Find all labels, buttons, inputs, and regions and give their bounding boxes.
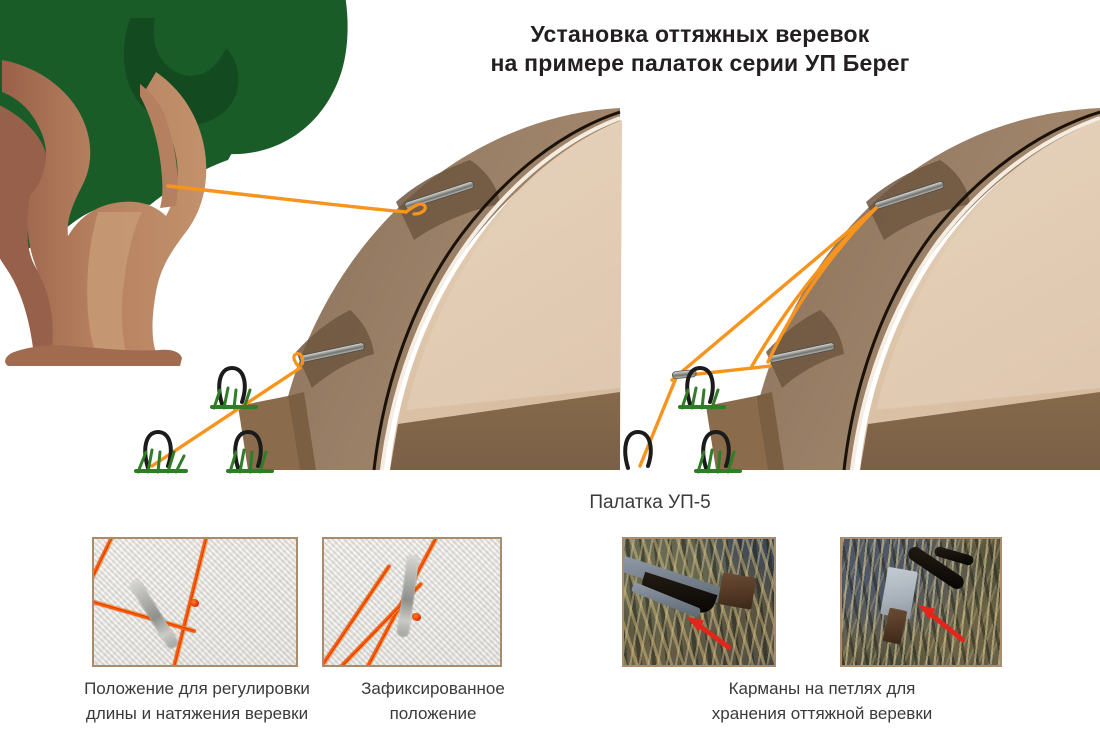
photo-loop-pocket-open[interactable]	[622, 537, 776, 667]
page-title: Установка оттяжных веревок на примере па…	[420, 20, 980, 78]
grass-tuft	[678, 388, 726, 409]
photo-content	[94, 539, 296, 665]
photo-tensioner-adjust[interactable]	[92, 537, 298, 667]
tree-roots	[5, 345, 182, 366]
photo-content	[842, 539, 1000, 665]
cord-knot	[190, 599, 199, 607]
photo-loop-pocket-closed[interactable]	[840, 537, 1002, 667]
page-title-line-2: на примере палаток серии УП Берег	[420, 49, 980, 78]
ground-stake	[219, 368, 245, 404]
guy-rope-left-upper	[168, 186, 425, 214]
cord-knot	[412, 613, 421, 621]
caption-line-2: хранения оттяжной веревки	[632, 701, 1012, 726]
tent-guyline-illustration	[0, 0, 1100, 520]
caption-line-1: Зафиксированное	[318, 676, 548, 701]
tent-model-caption: Палатка УП-5	[490, 492, 810, 514]
grass-tuft	[210, 388, 258, 409]
caption-tensioner-locked: Зафиксированное положение	[318, 676, 548, 726]
tent-left	[238, 108, 622, 470]
caption-line-2: положение	[318, 701, 548, 726]
caption-line-1: Карманы на петлях для	[632, 676, 1012, 701]
stake-group-left-a	[134, 432, 188, 473]
poster-canvas: Установка оттяжных веревок на примере па…	[0, 0, 1100, 733]
page-title-line-1: Установка оттяжных веревок	[420, 20, 980, 49]
photo-content	[324, 539, 500, 665]
tree-illustration	[0, 0, 348, 366]
stake-group-left-b	[210, 368, 258, 409]
tent-right	[706, 108, 1100, 470]
red-arrow-icon	[842, 539, 1000, 665]
photo-content	[624, 539, 774, 665]
caption-loop-pockets: Карманы на петлях для хранения оттяжной …	[632, 676, 1012, 726]
red-arrow-icon	[624, 539, 774, 665]
photo-tensioner-locked[interactable]	[322, 537, 502, 667]
